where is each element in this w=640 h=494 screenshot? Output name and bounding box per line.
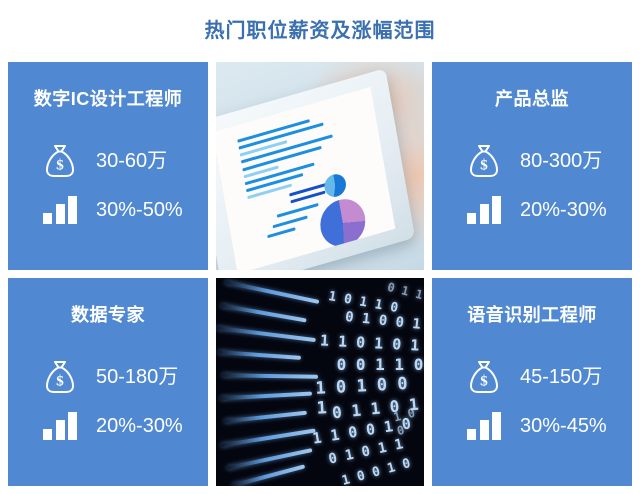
growth-row: 20%-30% bbox=[462, 188, 607, 232]
job-title: 产品总监 bbox=[495, 90, 569, 108]
bar-chart-icon bbox=[462, 404, 506, 448]
job-title: 数字IC设计工程师 bbox=[34, 90, 183, 108]
infographic-root: 热门职位薪资及涨幅范围 数字IC设计工程师 $ 30-60万 bbox=[0, 0, 640, 494]
money-bag-icon: $ bbox=[462, 355, 506, 399]
money-bag-icon: $ bbox=[38, 355, 82, 399]
svg-text:$: $ bbox=[56, 158, 64, 174]
tablet-device bbox=[216, 69, 414, 270]
salary-row: $ 45-150万 bbox=[462, 350, 602, 404]
salary-value: 30-60万 bbox=[96, 151, 167, 171]
salary-value: 80-300万 bbox=[520, 151, 602, 171]
binary-data-photo: 1 0 1 1 0 0 1 0 0 1 1 1 0 1 0 1 0 0 1 1 … bbox=[216, 278, 424, 486]
job-card-data-expert[interactable]: 数据专家 $ 50-180万 20%- bbox=[8, 278, 208, 486]
job-metrics: $ 30-60万 30%-50% bbox=[18, 134, 198, 232]
job-card-digital-ic-design-engineer[interactable]: 数字IC设计工程师 $ 30-60万 bbox=[8, 62, 208, 270]
bar-chart-icon bbox=[38, 404, 82, 448]
growth-value: 20%-30% bbox=[96, 416, 183, 436]
job-metrics: $ 80-300万 20%-30% bbox=[442, 134, 622, 232]
money-bag-icon: $ bbox=[38, 139, 82, 183]
job-card-product-director[interactable]: 产品总监 $ 80-300万 20%- bbox=[432, 62, 632, 270]
job-title: 数据专家 bbox=[71, 306, 145, 324]
salary-row: $ 30-60万 bbox=[38, 134, 167, 188]
growth-value: 20%-30% bbox=[520, 200, 607, 220]
salary-row: $ 50-180万 bbox=[38, 350, 178, 404]
growth-row: 30%-45% bbox=[462, 404, 607, 448]
svg-text:$: $ bbox=[480, 374, 488, 390]
money-bag-icon: $ bbox=[462, 139, 506, 183]
cards-grid: 数字IC设计工程师 $ 30-60万 bbox=[8, 62, 632, 486]
svg-text:$: $ bbox=[56, 374, 64, 390]
tablet-screen bbox=[216, 87, 395, 270]
tablet-analytics-photo bbox=[216, 62, 424, 270]
header: 热门职位薪资及涨幅范围 bbox=[0, 0, 640, 62]
salary-row: $ 80-300万 bbox=[462, 134, 602, 188]
job-card-speech-recognition-engineer[interactable]: 语音识别工程师 $ 45-150万 3 bbox=[432, 278, 632, 486]
pie-chart-large bbox=[316, 194, 368, 252]
growth-value: 30%-45% bbox=[520, 416, 607, 436]
job-title: 语音识别工程师 bbox=[467, 306, 597, 324]
bar-chart-icon bbox=[38, 188, 82, 232]
job-metrics: $ 45-150万 30%-45% bbox=[442, 350, 622, 448]
page-title: 热门职位薪资及涨幅范围 bbox=[205, 21, 436, 41]
salary-value: 50-180万 bbox=[96, 367, 178, 387]
salary-value: 45-150万 bbox=[520, 367, 602, 387]
job-metrics: $ 50-180万 20%-30% bbox=[18, 350, 198, 448]
growth-value: 30%-50% bbox=[96, 200, 183, 220]
pie-chart-small bbox=[323, 172, 348, 200]
svg-text:$: $ bbox=[480, 158, 488, 174]
bar-chart-icon bbox=[462, 188, 506, 232]
growth-row: 20%-30% bbox=[38, 404, 183, 448]
growth-row: 30%-50% bbox=[38, 188, 183, 232]
